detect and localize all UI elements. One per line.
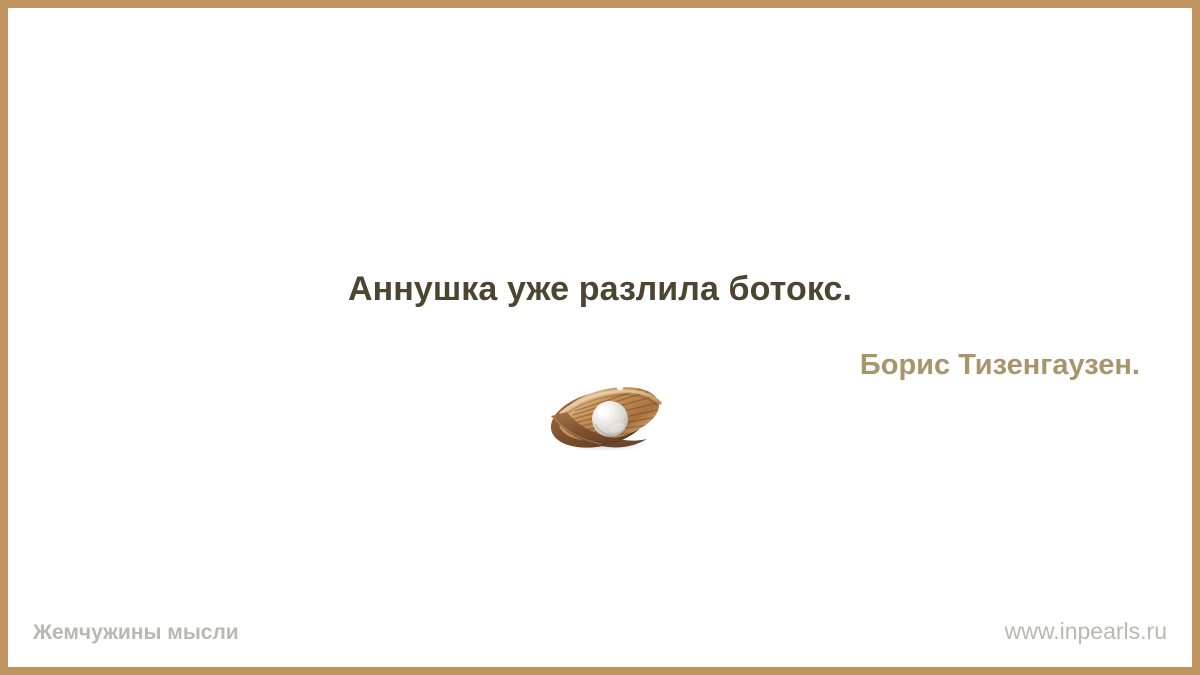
quote-text: Аннушка уже разлила ботокс. xyxy=(16,270,1184,309)
site-name-label: Жемчужины мысли xyxy=(33,621,239,645)
site-url-label[interactable]: www.inpearls.ru xyxy=(1005,618,1167,645)
quote-card: Аннушка уже разлила ботокс. Борис Тизенг… xyxy=(0,0,1200,675)
oyster-shell-with-pearl-icon xyxy=(543,383,669,451)
quote-author: Борис Тизенгаузен. xyxy=(860,349,1140,382)
